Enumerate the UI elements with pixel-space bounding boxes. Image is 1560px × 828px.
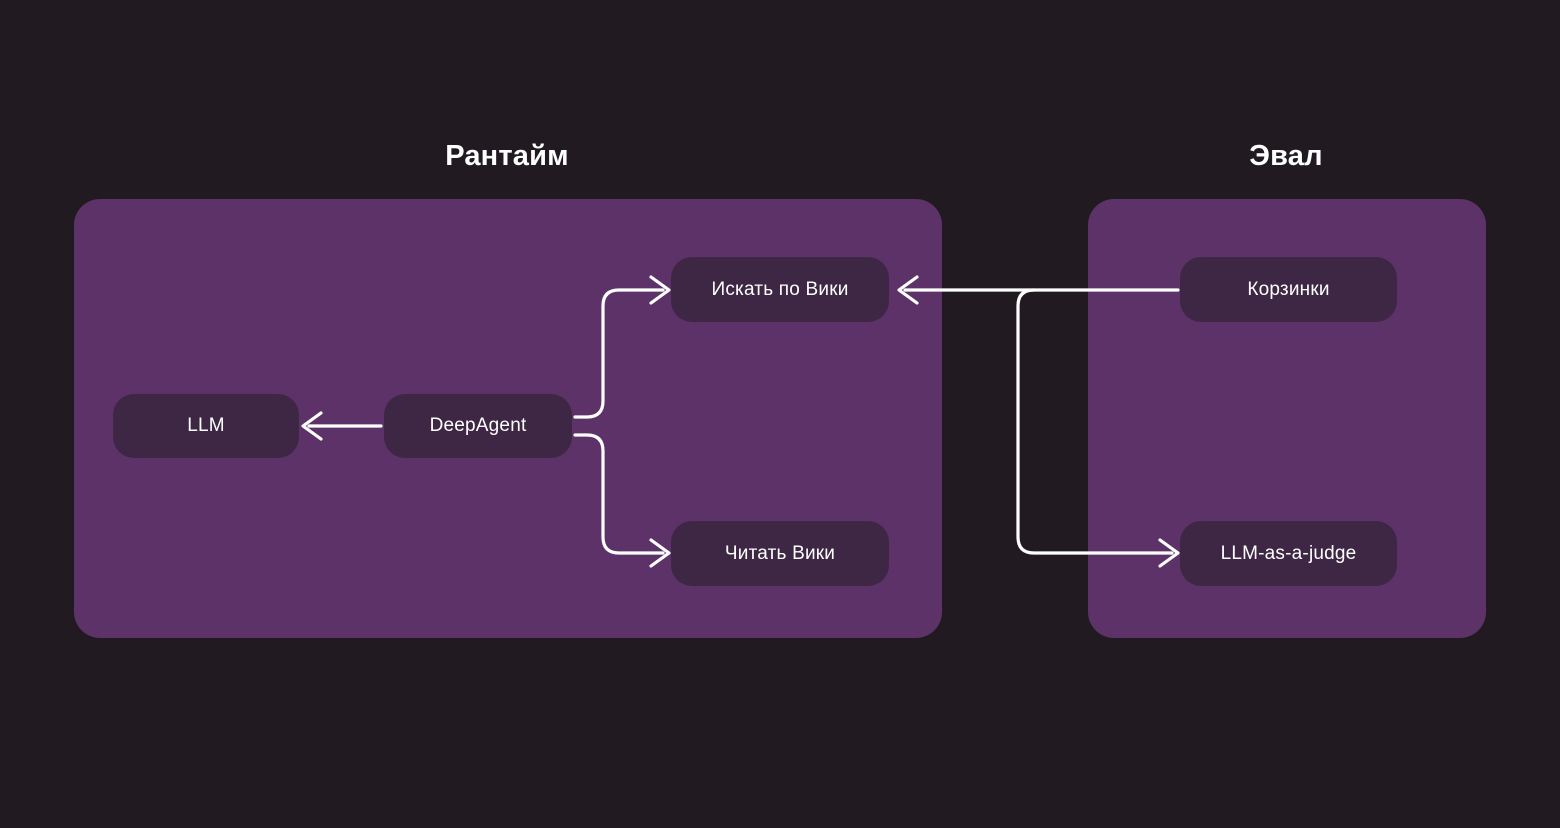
node-label-baskets: Корзинки xyxy=(1247,279,1329,301)
diagram-canvas: Рантайм Эвал LLM xyxy=(0,0,1560,828)
node-label-llm: LLM xyxy=(187,415,225,437)
group-title-eval: Эвал xyxy=(1249,140,1322,173)
node-llm[interactable]: LLM xyxy=(113,394,299,458)
node-label-wiki-search: Искать по Вики xyxy=(711,279,848,301)
node-label-deepagent: DeepAgent xyxy=(430,415,527,437)
node-wiki-search[interactable]: Искать по Вики xyxy=(671,257,889,322)
node-baskets[interactable]: Корзинки xyxy=(1180,257,1397,322)
node-label-wiki-read: Читать Вики xyxy=(725,543,835,565)
group-title-runtime: Рантайм xyxy=(445,140,569,173)
node-judge[interactable]: LLM-as-a-judge xyxy=(1180,521,1397,586)
node-label-judge: LLM-as-a-judge xyxy=(1221,543,1357,565)
node-wiki-read[interactable]: Читать Вики xyxy=(671,521,889,586)
node-deepagent[interactable]: DeepAgent xyxy=(384,394,572,458)
